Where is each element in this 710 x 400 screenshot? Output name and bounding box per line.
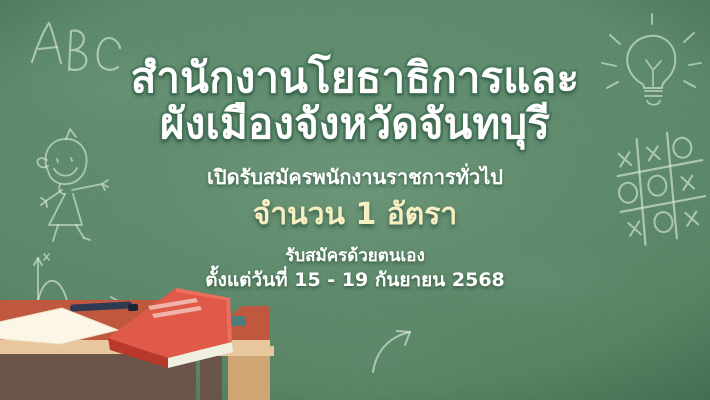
desk-scene [0, 280, 710, 400]
application-method-text: รับสมัครด้วยตนเอง [0, 246, 710, 267]
announcement-poster: สำนักงานโยธาธิการและ ผังเมืองจังหวัดจันท… [0, 0, 710, 400]
poster-text-block: สำนักงานโยธาธิการและ ผังเมืองจังหวัดจันท… [0, 0, 710, 292]
headline-line-1: สำนักงานโยธาธิการและ [0, 56, 710, 100]
quantity-text: จำนวน 1 อัตรา [0, 198, 710, 232]
announcement-text: เปิดรับสมัครพนักงานราชการทั่วไป [0, 166, 710, 188]
headline-line-2: ผังเมืองจังหวัดจันทบุรี [0, 102, 710, 146]
